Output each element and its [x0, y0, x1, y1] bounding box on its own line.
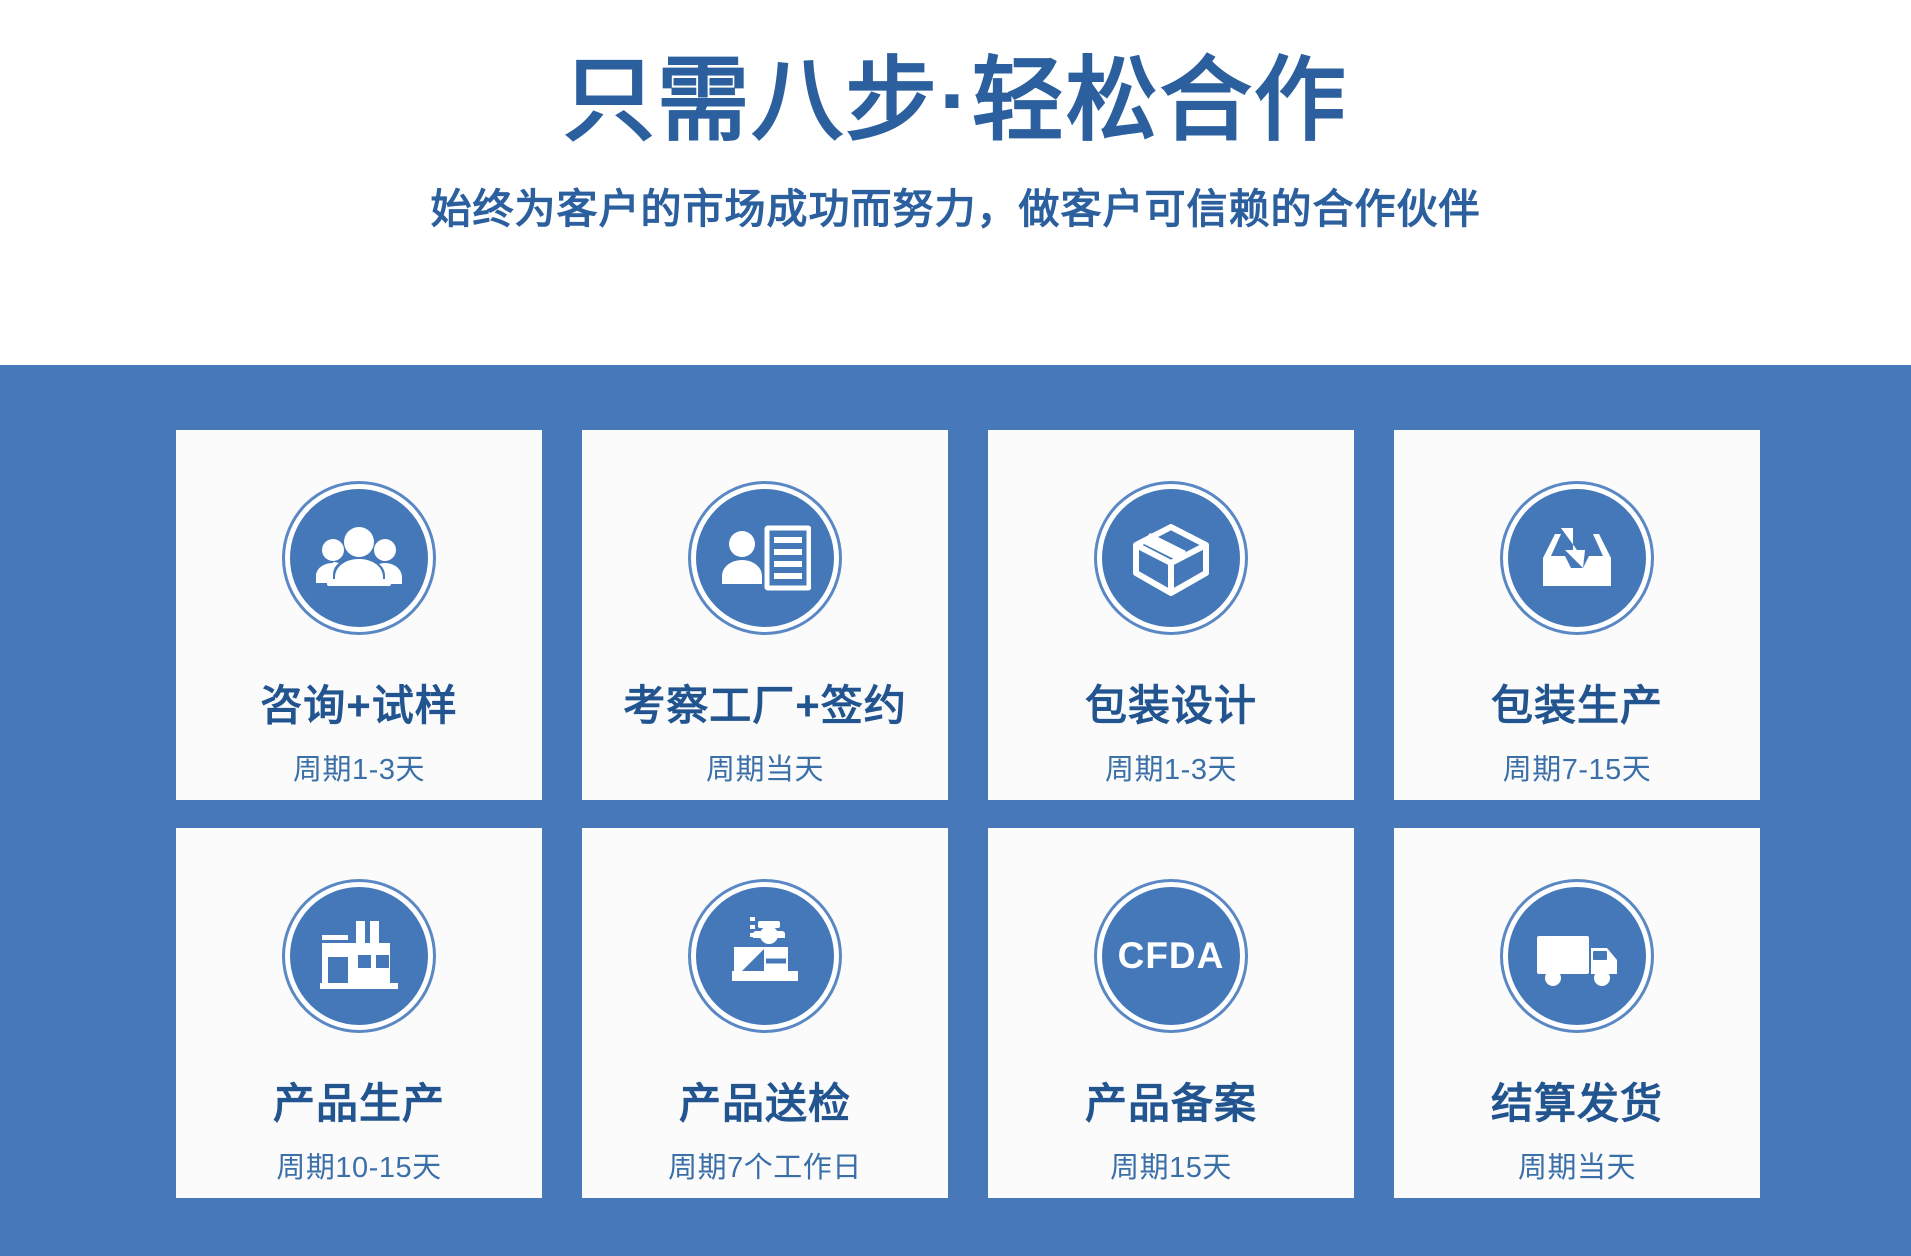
step-title: 产品生产	[273, 1070, 445, 1131]
steps-grid: 咨询+试样 周期1-3天	[176, 430, 1760, 1198]
page-title: 只需八步·轻松合作	[563, 52, 1348, 151]
step-title: 包装生产	[1491, 672, 1663, 733]
step-title: 咨询+试样	[260, 672, 458, 733]
cfda-label: CFDA	[1118, 935, 1225, 977]
step-title: 产品备案	[1085, 1070, 1257, 1131]
cfda-logo-icon: CFDA	[1097, 882, 1245, 1030]
factory-icon	[285, 882, 433, 1030]
page-header: 只需八步·轻松合作 始终为客户的市场成功而努力，做客户可信赖的合作伙伴	[0, 0, 1911, 365]
step-title: 产品送检	[679, 1070, 851, 1131]
steps-band: 咨询+试样 周期1-3天	[0, 365, 1911, 1256]
open-box-icon	[1097, 484, 1245, 632]
step-card-1[interactable]: 咨询+试样 周期1-3天	[176, 430, 542, 800]
step-duration: 周期7个工作日	[668, 1144, 862, 1186]
step-title: 包装设计	[1085, 672, 1257, 733]
step-duration: 周期10-15天	[276, 1144, 441, 1186]
step-title: 考察工厂+签约	[623, 672, 907, 733]
page-subtitle: 始终为客户的市场成功而努力，做客户可信赖的合作伙伴	[431, 175, 1481, 235]
step-card-5[interactable]: 产品生产 周期10-15天	[176, 828, 542, 1198]
delivery-truck-icon	[1503, 882, 1651, 1030]
step-card-8[interactable]: 结算发货 周期当天	[1394, 828, 1760, 1198]
step-card-3[interactable]: 包装设计 周期1-3天	[988, 430, 1354, 800]
step-duration: 周期7-15天	[1503, 746, 1652, 788]
process-steps-page: 只需八步·轻松合作 始终为客户的市场成功而努力，做客户可信赖的合作伙伴	[0, 0, 1911, 1256]
step-duration: 周期15天	[1110, 1144, 1232, 1186]
step-title: 结算发货	[1491, 1070, 1663, 1131]
users-group-icon	[285, 484, 433, 632]
customs-inspection-icon	[691, 882, 839, 1030]
step-duration: 周期1-3天	[293, 746, 425, 788]
step-card-6[interactable]: 产品送检 周期7个工作日	[582, 828, 948, 1198]
step-card-2[interactable]: 考察工厂+签约 周期当天	[582, 430, 948, 800]
step-duration: 周期当天	[1518, 1144, 1636, 1186]
step-card-7[interactable]: CFDA 产品备案 周期15天	[988, 828, 1354, 1198]
step-card-4[interactable]: 包装生产 周期7-15天	[1394, 430, 1760, 800]
step-duration: 周期当天	[706, 746, 824, 788]
inbox-download-icon	[1503, 484, 1651, 632]
step-duration: 周期1-3天	[1105, 746, 1237, 788]
person-document-icon	[691, 484, 839, 632]
